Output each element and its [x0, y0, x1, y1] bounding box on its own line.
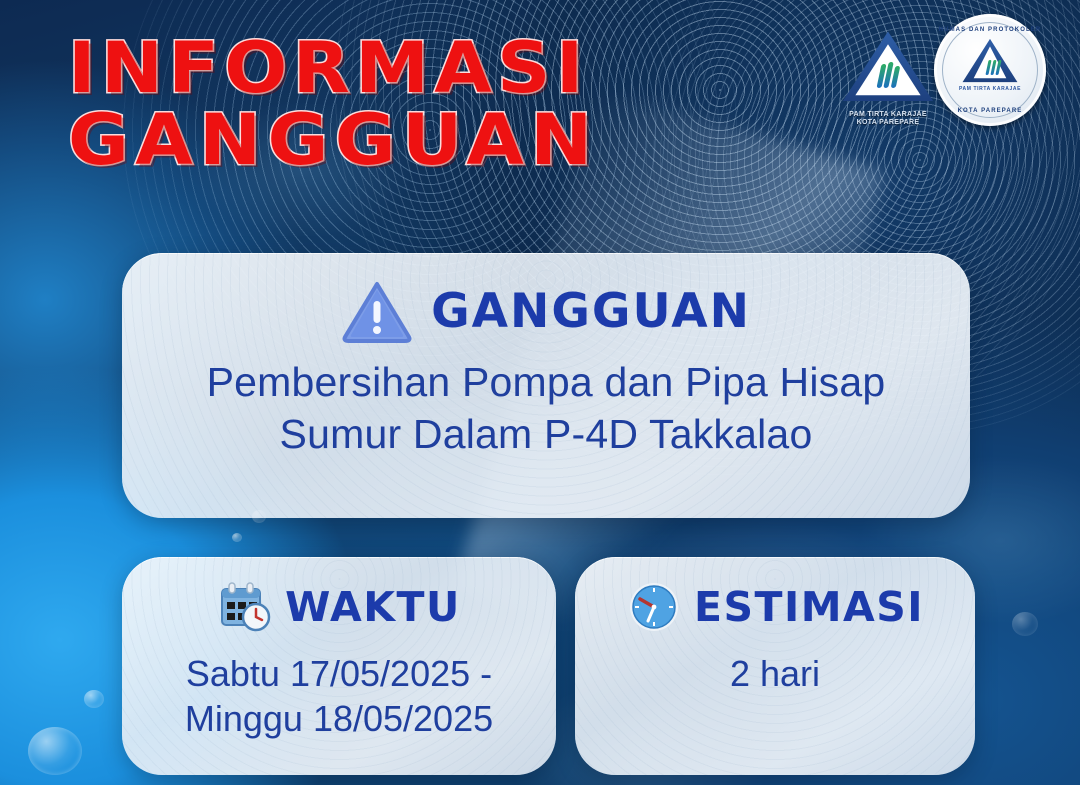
gangguan-heading: GANGGUAN	[431, 284, 751, 339]
water-bubble-icon	[1012, 612, 1038, 636]
estimasi-card: ESTIMASI 2 hari	[575, 557, 975, 775]
badge-text-top: HUMAS DAN PROTOKOLER	[934, 27, 1046, 33]
pam-tirta-karajae-logo: PAM TIRTA KARAJAE KOTA PAREPARE	[836, 30, 940, 126]
logo-caption-line1: PAM TIRTA KARAJAE	[832, 111, 944, 120]
calendar-clock-icon	[217, 579, 273, 635]
poster-title: INFORMASI GANGGUAN	[68, 36, 569, 173]
poster-header: INFORMASI GANGGUAN PAM TIRTA KARAJAE KOT…	[0, 0, 1080, 200]
title-line-informasi: INFORMASI	[68, 36, 599, 100]
title-line-gangguan: GANGGUAN	[68, 108, 599, 172]
water-wave-icon	[870, 60, 906, 88]
waktu-heading: WAKTU	[285, 583, 461, 631]
logo-caption: PAM TIRTA KARAJAE KOTA PAREPARE	[832, 111, 944, 129]
gangguan-description-line2: Sumur Dalam P-4D Takkalao	[122, 409, 970, 461]
gangguan-card-header: GANGGUAN	[122, 279, 970, 343]
water-bubble-icon	[28, 727, 82, 775]
badge-text-bottom: KOTA PAREPARE	[934, 108, 1046, 114]
estimasi-heading: ESTIMASI	[694, 583, 924, 631]
waktu-card-header: WAKTU	[122, 579, 556, 635]
waktu-value: Sabtu 17/05/2025 - Minggu 18/05/2025	[122, 651, 556, 741]
humas-protokoler-badge: HUMAS DAN PROTOKOLER PAM TIRTA KARAJAE K…	[934, 14, 1046, 126]
water-bubble-icon	[232, 533, 242, 542]
logo-caption-line2: KOTA PAREPARE	[832, 119, 944, 128]
gangguan-description: Pembersihan Pompa dan Pipa Hisap Sumur D…	[122, 357, 970, 460]
estimasi-value: 2 hari	[575, 651, 975, 696]
gangguan-description-line1: Pembersihan Pompa dan Pipa Hisap	[122, 357, 970, 409]
informasi-gangguan-poster: INFORMASI GANGGUAN PAM TIRTA KARAJAE KOT…	[0, 0, 1080, 785]
water-bubble-icon	[84, 690, 104, 708]
waktu-value-line1: Sabtu 17/05/2025 -	[122, 651, 556, 696]
estimasi-card-header: ESTIMASI	[575, 579, 975, 635]
logo-group: PAM TIRTA KARAJAE KOTA PAREPARE HUMAS DA…	[836, 14, 1046, 134]
gangguan-card: GANGGUAN Pembersihan Pompa dan Pipa Hisa…	[122, 253, 970, 518]
water-wave-icon	[982, 57, 1004, 75]
warning-triangle-icon	[341, 279, 413, 343]
estimasi-value-line1: 2 hari	[575, 651, 975, 696]
badge-text-middle: PAM TIRTA KARAJAE	[934, 86, 1046, 92]
waktu-card: WAKTU Sabtu 17/05/2025 - Minggu 18/05/20…	[122, 557, 556, 775]
waktu-value-line2: Minggu 18/05/2025	[122, 696, 556, 741]
badge-triangle-logo-icon	[962, 38, 1018, 84]
clock-icon	[626, 579, 682, 635]
